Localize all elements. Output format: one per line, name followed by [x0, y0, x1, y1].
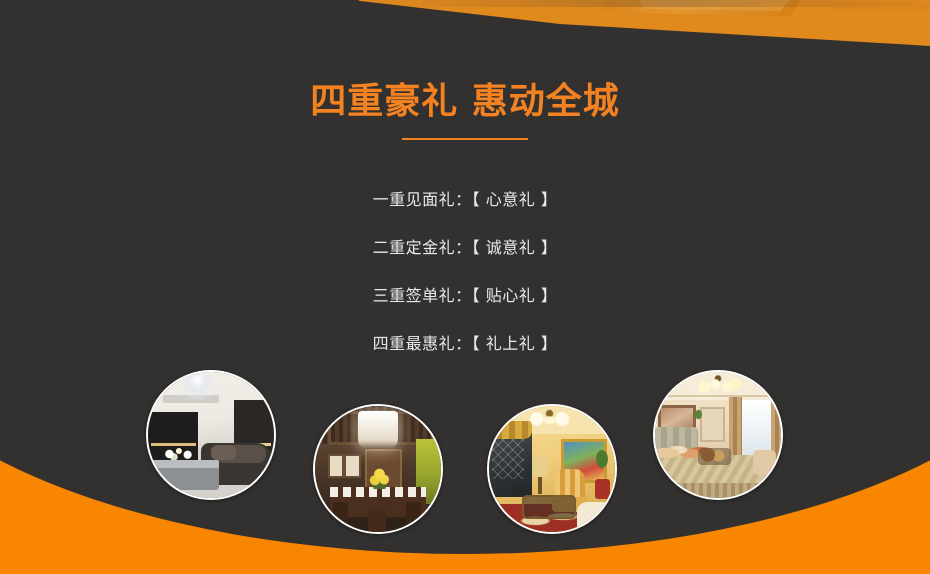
offer-item-1: 一重见面礼：【 心意礼 】	[0, 188, 930, 236]
coffee-table-top	[153, 460, 219, 468]
dining-chair-front	[368, 509, 386, 532]
window-lattice	[492, 439, 525, 479]
top-orange-banner	[0, 0, 930, 58]
dining-chair-right	[406, 502, 421, 530]
title-divider	[402, 138, 528, 140]
curtain-left	[729, 397, 742, 460]
scene-chinese-dining-room	[315, 406, 441, 532]
lamp-stand	[538, 477, 542, 495]
glass-coffee-table	[522, 495, 576, 519]
white-sofa	[577, 502, 615, 532]
promo-banner-page: 四重豪礼 惠动全城 一重见面礼：【 心意礼 】 二重定金礼：【 诚意礼 】 三重…	[0, 0, 930, 574]
bed-skirt	[655, 483, 763, 498]
brass-chandelier-icon	[527, 409, 572, 434]
scene-european-living-room	[489, 406, 615, 532]
photo-circle-modern-living-room[interactable]	[146, 370, 276, 500]
iron-chandelier-icon	[695, 375, 740, 398]
scene-modern-living-room	[148, 372, 274, 498]
flower-arrangement	[158, 445, 196, 460]
crystal-chandelier-icon	[181, 375, 214, 400]
photo-circle-european-living-room[interactable]	[487, 404, 617, 534]
potted-plant	[592, 444, 612, 474]
curtain-valance	[489, 421, 532, 439]
rectangular-chandelier-icon	[358, 411, 398, 449]
wall-picture-a	[328, 454, 345, 478]
heading-block: 四重豪礼 惠动全城	[0, 78, 930, 140]
yellow-flower-centerpiece	[368, 464, 391, 489]
offer-item-3: 三重签单礼：【 贴心礼 】	[0, 284, 930, 332]
potted-plant	[693, 407, 704, 422]
table-lamp	[532, 456, 548, 476]
red-accent-chair	[595, 479, 610, 499]
dining-chair-left	[333, 502, 348, 530]
photo-circle-chinese-dining-room[interactable]	[313, 404, 443, 534]
offer-item-2: 二重定金礼：【 诚意礼 】	[0, 236, 930, 284]
offer-list: 一重见面礼：【 心意礼 】 二重定金礼：【 诚意礼 】 三重签单礼：【 贴心礼 …	[0, 188, 930, 380]
bed-tray	[698, 448, 731, 466]
scene-luxury-bedroom	[655, 372, 781, 498]
side-armchair	[753, 450, 776, 475]
photo-circle-luxury-bedroom[interactable]	[653, 370, 783, 500]
page-title: 四重豪礼 惠动全城	[0, 78, 930, 126]
sofa-throw-pillow	[211, 445, 236, 460]
wall-picture-b	[344, 454, 361, 478]
offer-item-4: 四重最惠礼：【 礼上礼 】	[0, 332, 930, 380]
bottom-orange-curve	[0, 454, 930, 574]
